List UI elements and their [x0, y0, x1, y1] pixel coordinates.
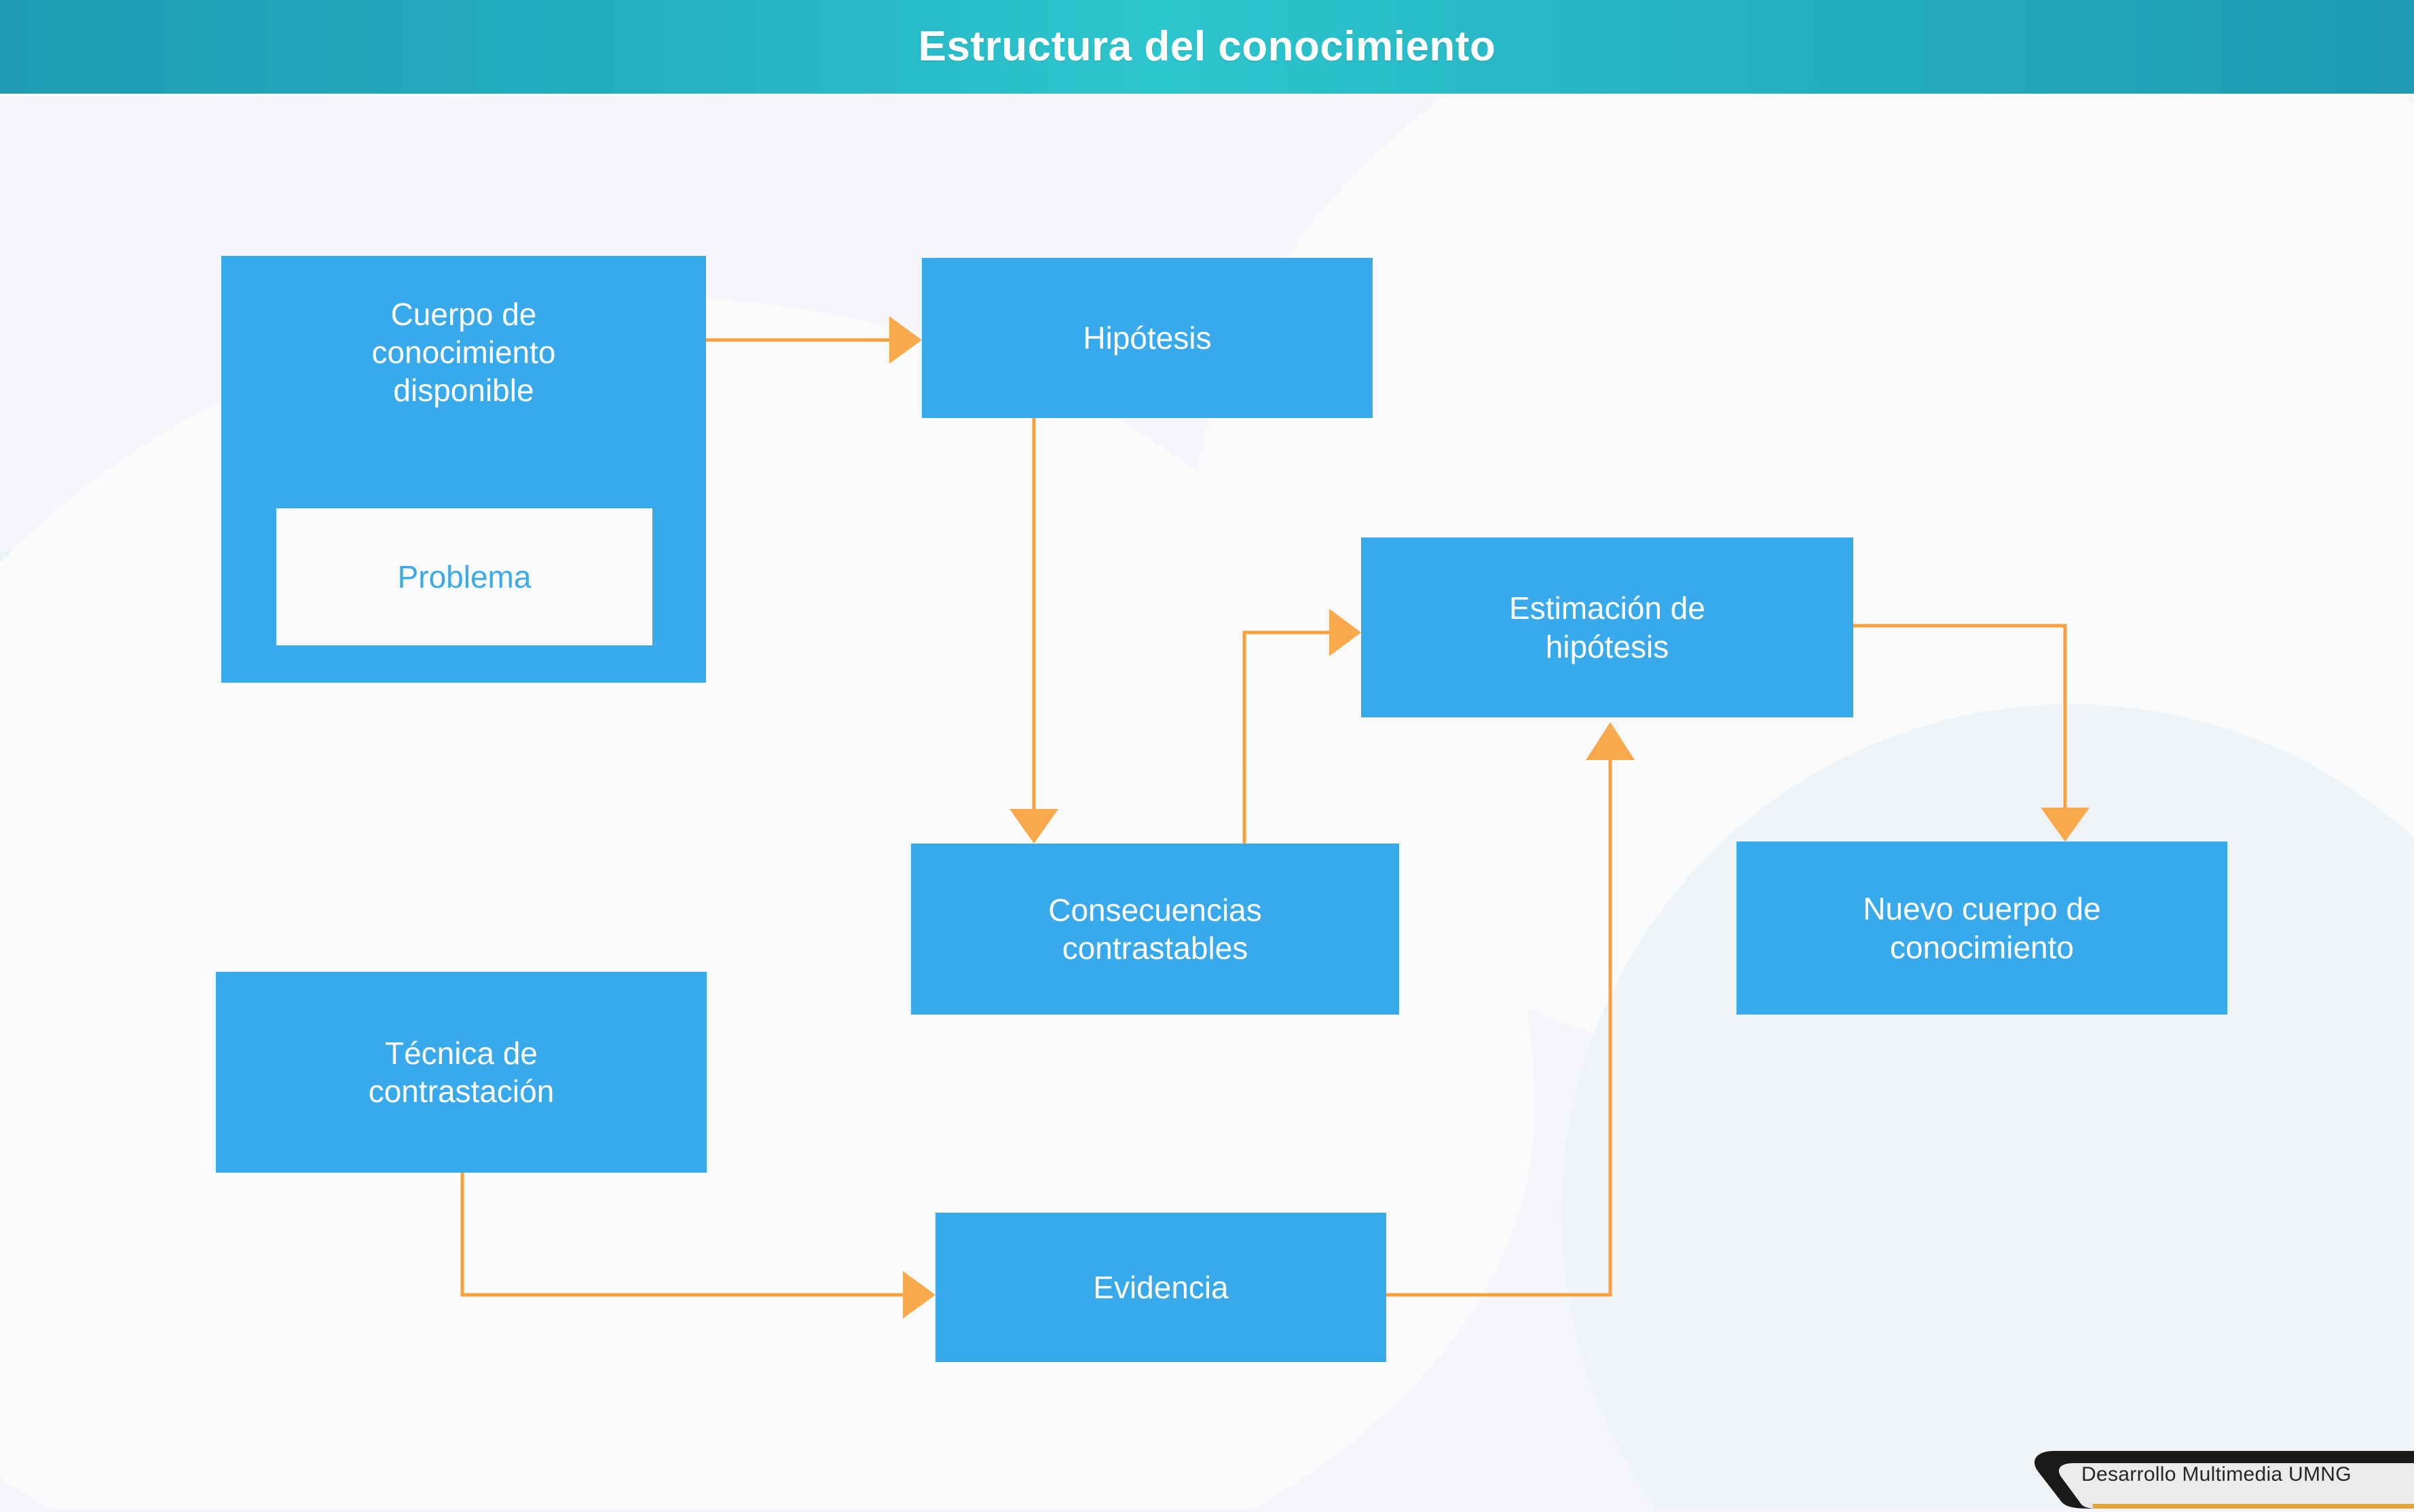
footer-badge: Desarrollo Multimedia UMNG: [2023, 1444, 2414, 1509]
node-sub-box-problema[interactable]: Problema: [276, 508, 652, 645]
node-tecnica-de-contrastacion[interactable]: Técnica de contrastación: [216, 972, 707, 1173]
node-hipotesis[interactable]: Hipótesis: [922, 258, 1373, 418]
node-label: Estimación de hipótesis: [1509, 589, 1705, 665]
node-evidencia[interactable]: Evidencia: [935, 1213, 1386, 1362]
page-title: Estructura del conocimiento: [918, 22, 1496, 71]
node-label: Consecuencias contrastables: [1048, 891, 1262, 967]
node-consecuencias-contrastables[interactable]: Consecuencias contrastables: [911, 844, 1399, 1015]
node-label: Nuevo cuerpo de conocimiento: [1863, 890, 2100, 966]
node-label: Técnica de contrastación: [369, 1034, 555, 1110]
slide-canvas: Estructura del conocimiento: [0, 0, 2414, 1509]
footer-label: Desarrollo Multimedia UMNG: [2081, 1463, 2400, 1486]
node-sub-label: Problema: [398, 558, 532, 596]
node-cuerpo-de-conocimiento[interactable]: Cuerpo de conocimiento disponible Proble…: [221, 256, 706, 683]
node-nuevo-cuerpo-de-conocimiento[interactable]: Nuevo cuerpo de conocimiento: [1737, 842, 2227, 1015]
header-underline: [0, 94, 2414, 96]
node-label: Hipótesis: [1083, 319, 1211, 357]
slide-header: Estructura del conocimiento: [0, 0, 2414, 94]
node-label: Evidencia: [1093, 1268, 1228, 1306]
node-label: Cuerpo de conocimiento disponible: [371, 295, 555, 409]
node-estimacion-de-hipotesis[interactable]: Estimación de hipótesis: [1361, 537, 1853, 717]
